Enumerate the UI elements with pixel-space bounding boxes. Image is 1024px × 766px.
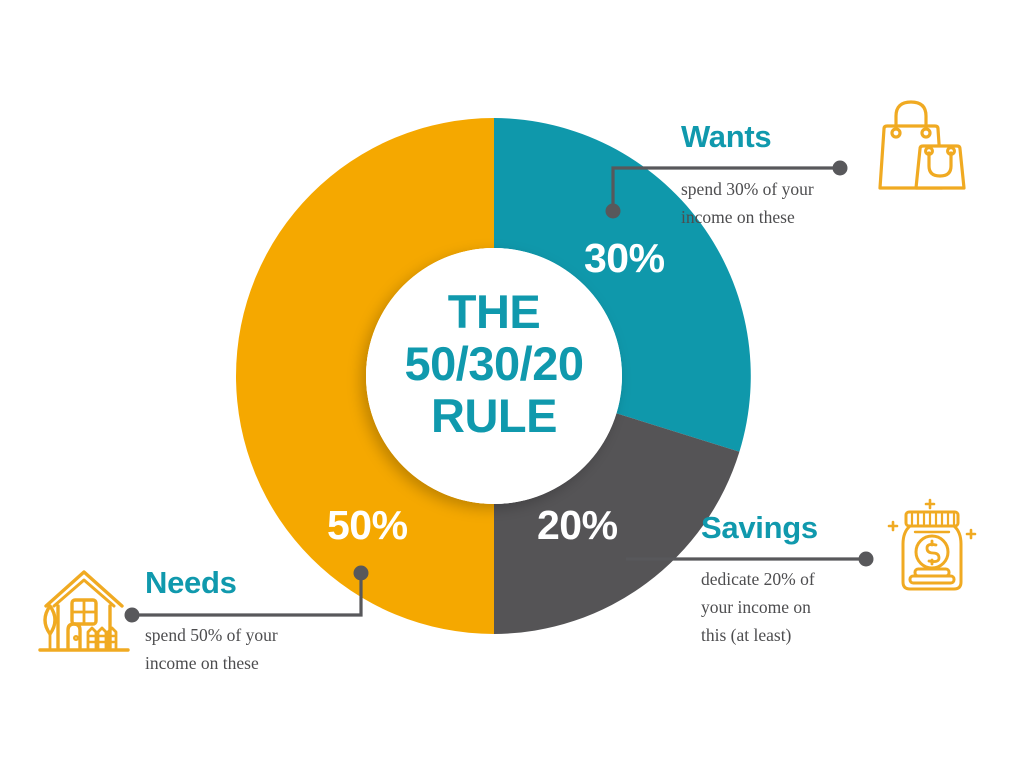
center-title: THE 50/30/20 RULE <box>366 286 622 442</box>
callout-desc-savings-line-1: dedicate 20% of <box>701 565 891 593</box>
callout-title-wants: Wants <box>681 120 771 154</box>
callout-desc-wants-line-1: spend 30% of your <box>681 175 881 203</box>
callout-desc-wants: spend 30% of your income on these <box>681 175 881 231</box>
connector-dot-wants-outer <box>833 161 848 176</box>
percent-label-needs: 50% <box>327 505 408 546</box>
savings-jar-icon <box>884 496 980 600</box>
shopping-bags-icon <box>874 96 970 200</box>
callout-desc-savings-line-2: your income on <box>701 593 891 621</box>
callout-desc-wants-line-2: income on these <box>681 203 881 231</box>
center-title-line-3: RULE <box>366 390 622 442</box>
callout-desc-savings: dedicate 20% of your income on this (at … <box>701 565 891 649</box>
callout-desc-needs-line-2: income on these <box>145 649 345 677</box>
center-title-line-2: 50/30/20 <box>366 338 622 390</box>
callout-desc-needs: spend 50% of your income on these <box>145 621 345 677</box>
callout-desc-needs-line-1: spend 50% of your <box>145 621 345 649</box>
infographic-canvas: THE 50/30/20 RULE 30% 50% 20% Wants spen… <box>0 0 1024 766</box>
center-title-line-1: THE <box>366 286 622 338</box>
callout-desc-savings-line-3: this (at least) <box>701 621 891 649</box>
callout-title-needs: Needs <box>145 566 237 600</box>
callout-title-savings: Savings <box>701 511 818 545</box>
percent-label-wants: 30% <box>584 238 665 279</box>
percent-label-savings: 20% <box>537 505 618 546</box>
house-icon <box>34 562 134 658</box>
